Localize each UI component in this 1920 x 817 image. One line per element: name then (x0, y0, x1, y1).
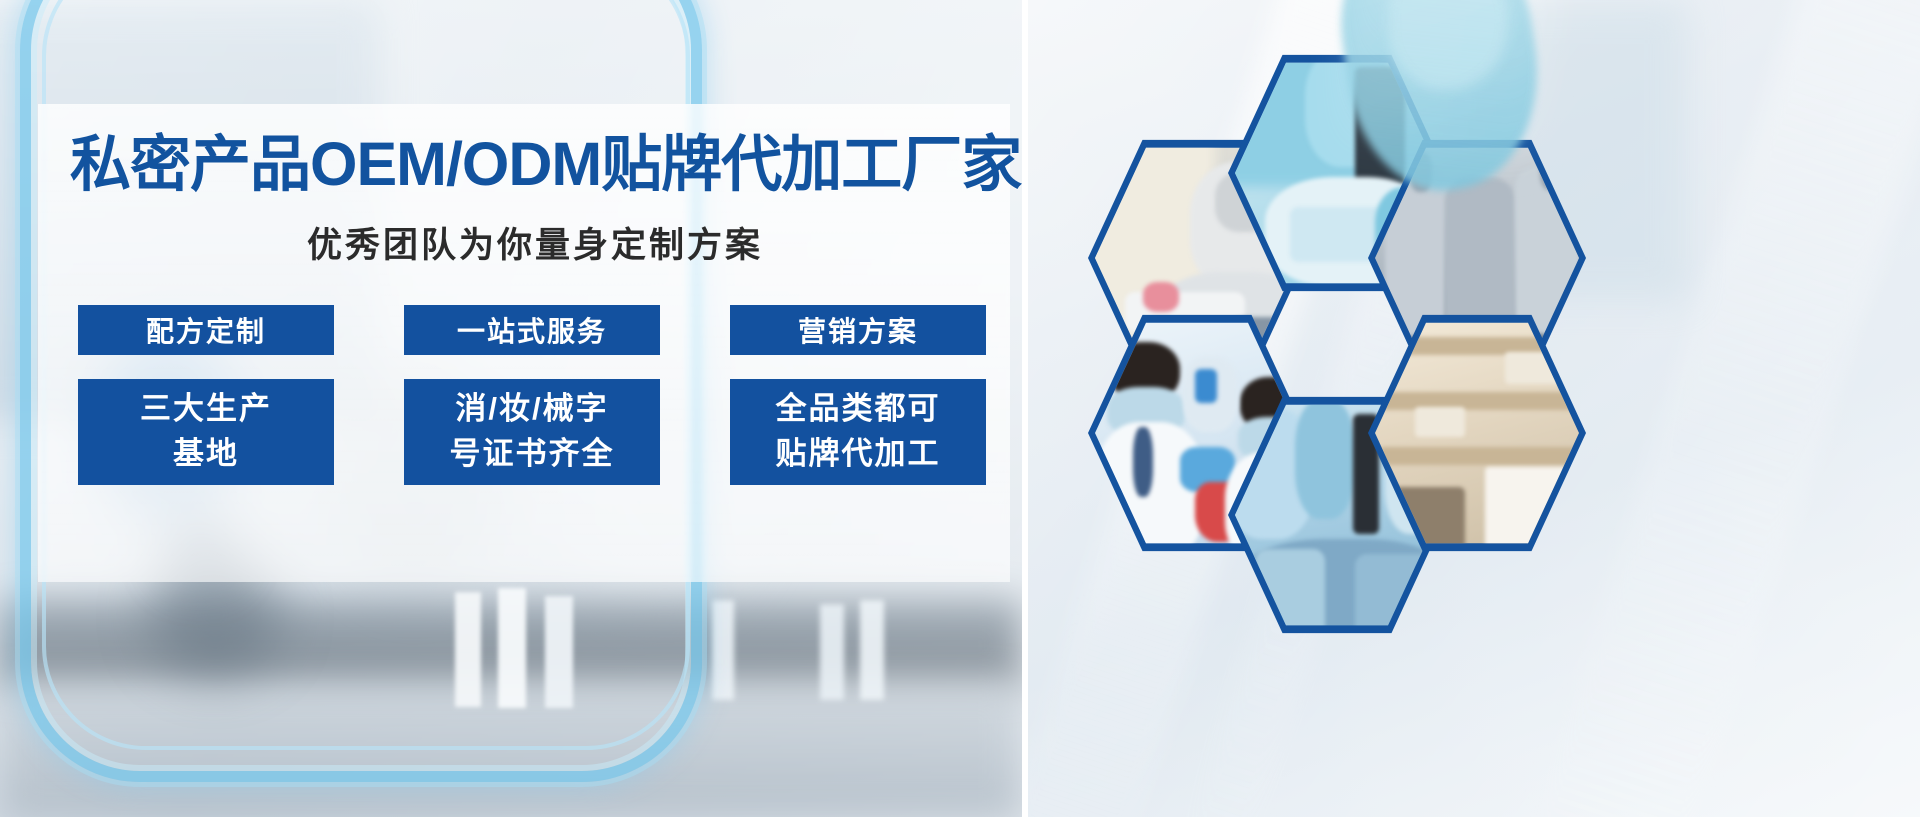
feature-tag-label-line2: 号证书齐全 (450, 432, 615, 477)
bg-shape (545, 596, 573, 708)
left-content-panel: 私密产品OEM/ODM贴牌代加工厂家 优秀团队为你量身定制方案 配方定制 一站式… (0, 0, 1022, 817)
feature-tag-label: 配方定制 (146, 310, 266, 350)
feature-tag-grid: 配方定制 一站式服务 营销方案 三大生产 (78, 305, 988, 509)
feature-tag-cell: 全品类都可 贴牌代加工 (730, 379, 986, 485)
feature-tag-all-categories-oem[interactable]: 全品类都可 贴牌代加工 (730, 379, 986, 485)
feature-tag-certificates-complete[interactable]: 消/妆/械字 号证书齐全 (404, 379, 660, 485)
feature-tag-label-line2: 基地 (173, 432, 239, 477)
feature-tag-label-line1: 三大生产 (140, 387, 272, 432)
feature-tag-cell: 营销方案 (730, 305, 986, 355)
feature-tag-marketing-plan[interactable]: 营销方案 (730, 305, 986, 355)
feature-tag-cell: 三大生产 基地 (78, 379, 334, 485)
bg-shape (820, 604, 844, 700)
page-subtitle: 优秀团队为你量身定制方案 (70, 228, 1000, 263)
feature-tag-cell: 消/妆/械字 号证书齐全 (404, 379, 660, 485)
hexagon-collage-panel (1028, 0, 1920, 817)
feature-tag-row-1: 配方定制 一站式服务 营销方案 (78, 305, 988, 355)
bg-shape (1329, 0, 1561, 190)
feature-tag-cell: 一站式服务 (404, 305, 660, 355)
feature-tag-label-line2: 贴牌代加工 (776, 432, 941, 477)
promo-banner: 私密产品OEM/ODM贴牌代加工厂家 优秀团队为你量身定制方案 配方定制 一站式… (0, 0, 1920, 817)
hexagon-photo (1375, 317, 1579, 549)
bg-shape (498, 588, 526, 708)
feature-tag-row-2: 三大生产 基地 消/妆/械字 号证书齐全 全品类都可 贴牌代加工 (78, 379, 988, 485)
feature-tag-label: 一站式服务 (457, 310, 607, 350)
bg-shape (860, 600, 884, 700)
feature-tag-formula-customization[interactable]: 配方定制 (78, 305, 334, 355)
page-title: 私密产品OEM/ODM贴牌代加工厂家 (70, 134, 1000, 195)
feature-tag-one-stop-service[interactable]: 一站式服务 (404, 305, 660, 355)
feature-tag-three-production-bases[interactable]: 三大生产 基地 (78, 379, 334, 485)
feature-tag-label: 营销方案 (798, 310, 918, 350)
feature-tag-cell: 配方定制 (78, 305, 334, 355)
feature-tag-label-line1: 全品类都可 (776, 387, 941, 432)
feature-tag-label-line1: 消/妆/械字 (455, 387, 608, 432)
bg-shape (455, 592, 481, 707)
bg-shape (712, 600, 734, 700)
